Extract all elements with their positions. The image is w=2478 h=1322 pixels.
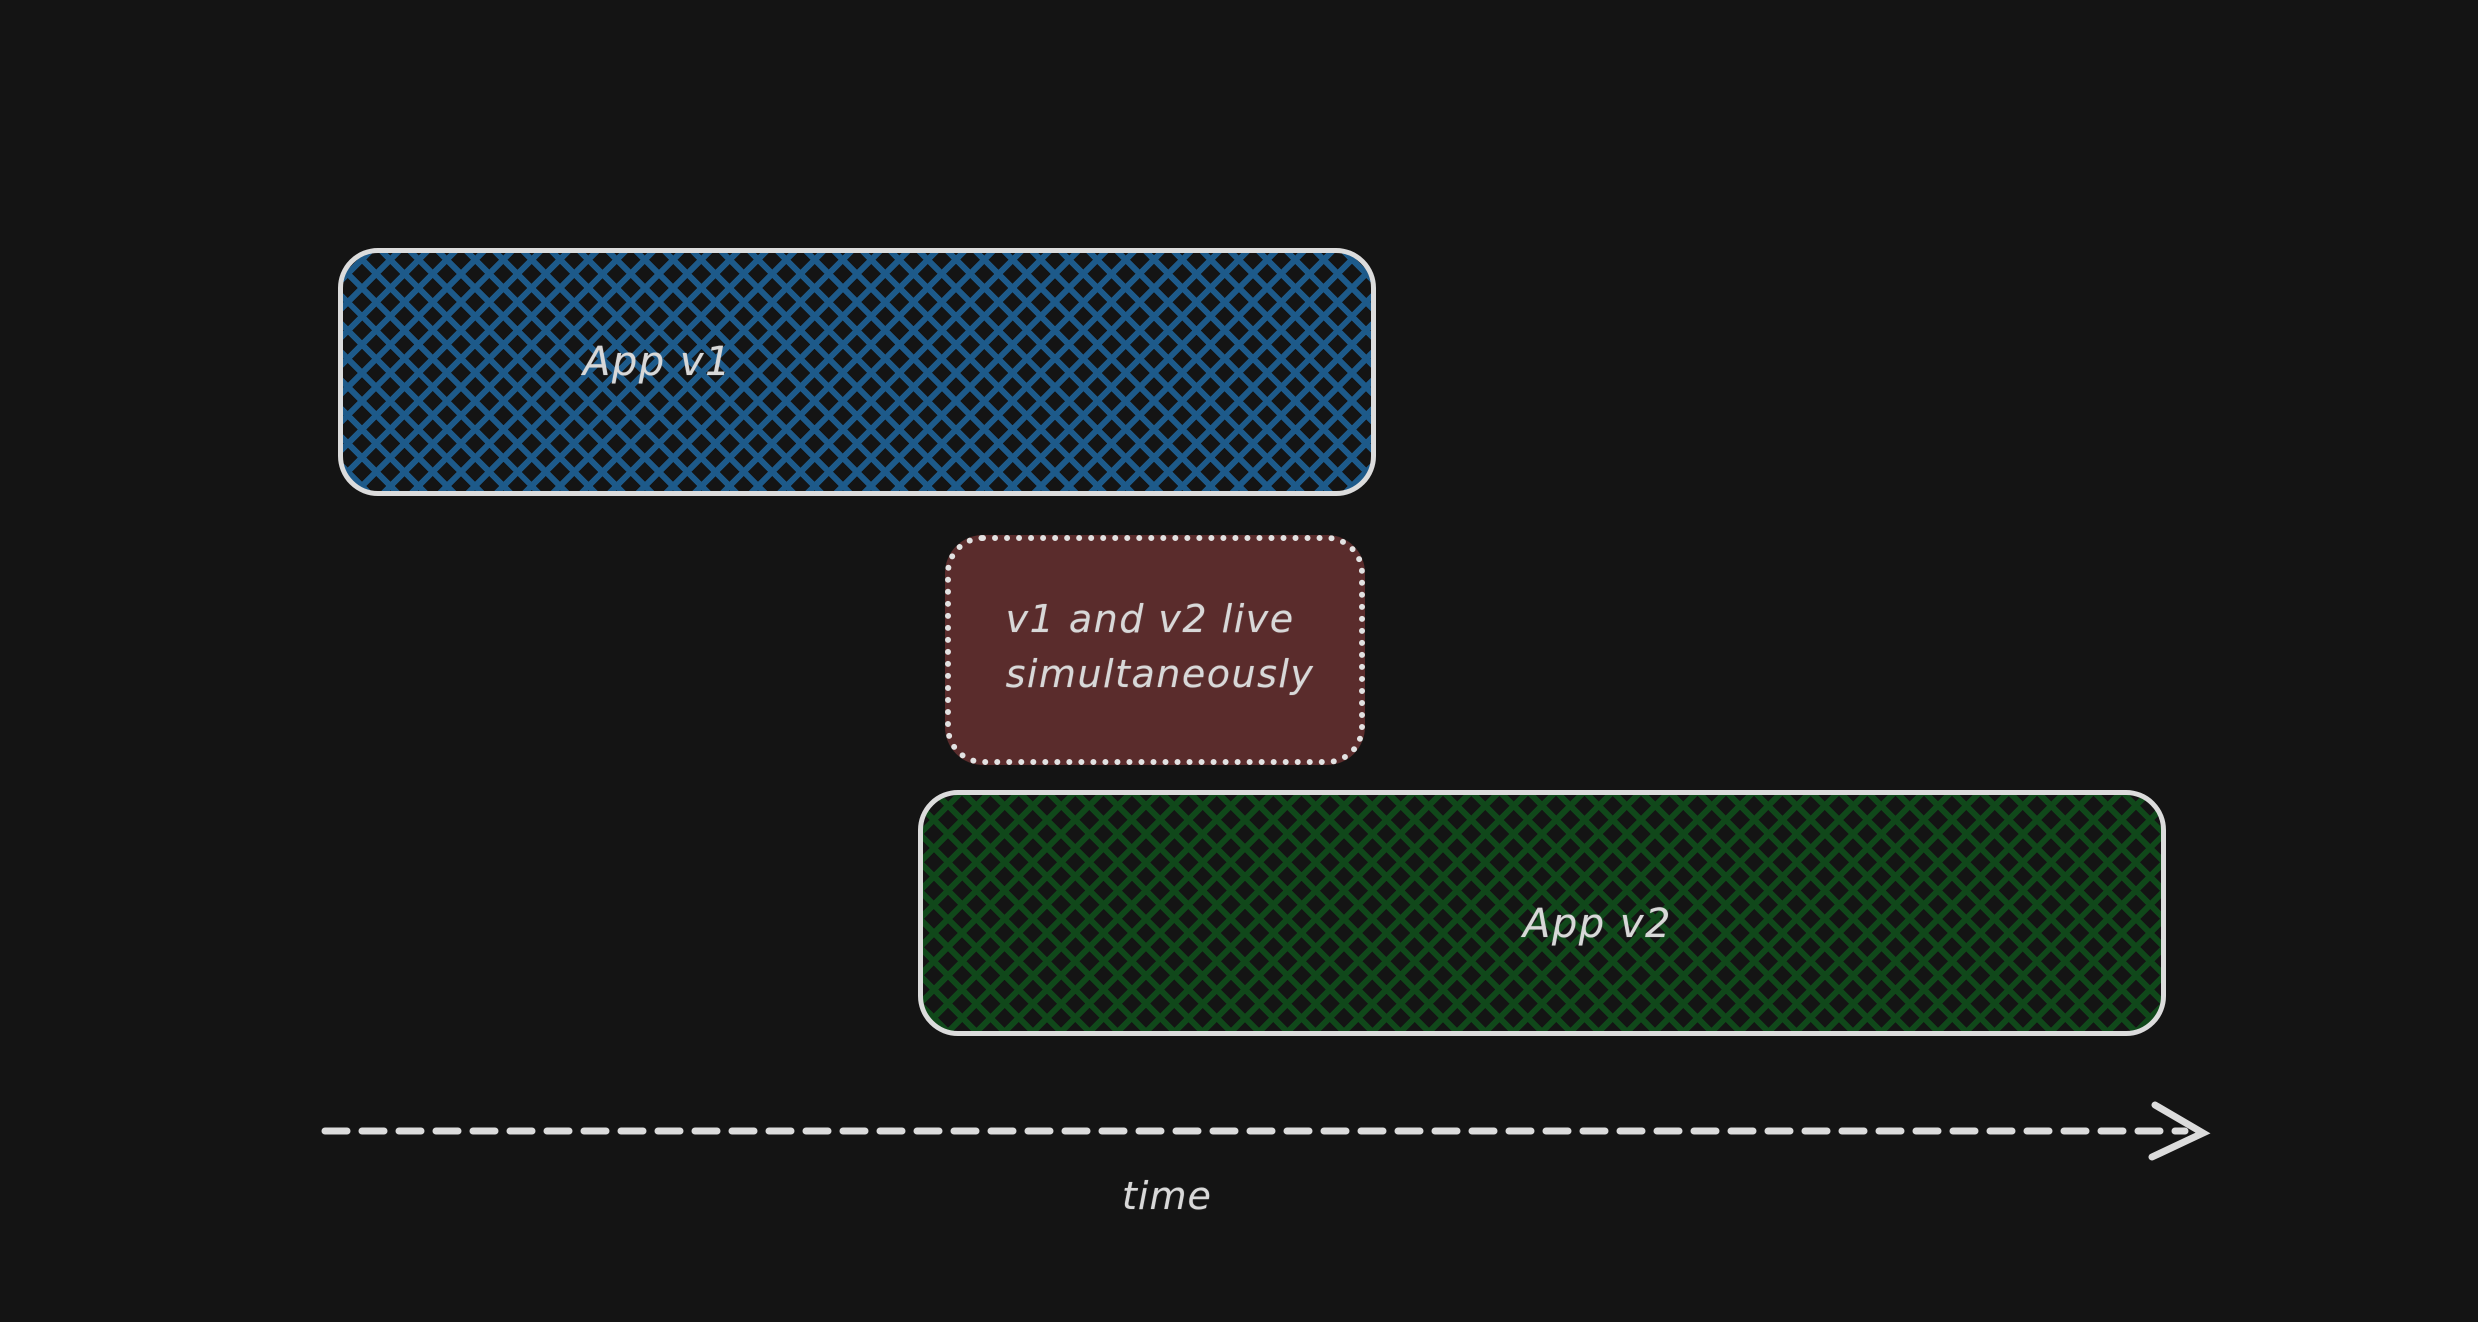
time-axis-label: time [1122, 1174, 1212, 1218]
box-overlap-annotation[interactable]: v1 and v2 live simultaneously [945, 535, 1365, 765]
box-overlap-annotation-label: v1 and v2 live simultaneously [1006, 592, 1315, 702]
box-app-v2[interactable]: App v2 [918, 790, 2166, 1036]
box-app-v1-label: App v1 [583, 335, 732, 389]
box-app-v1[interactable]: App v1 [338, 248, 1376, 496]
time-axis-arrowhead-icon [2152, 1105, 2203, 1157]
box-app-v2-label: App v2 [1523, 897, 1672, 951]
diagram-canvas: App v1 App v2 v1 and v2 live simultaneou… [0, 0, 2478, 1322]
